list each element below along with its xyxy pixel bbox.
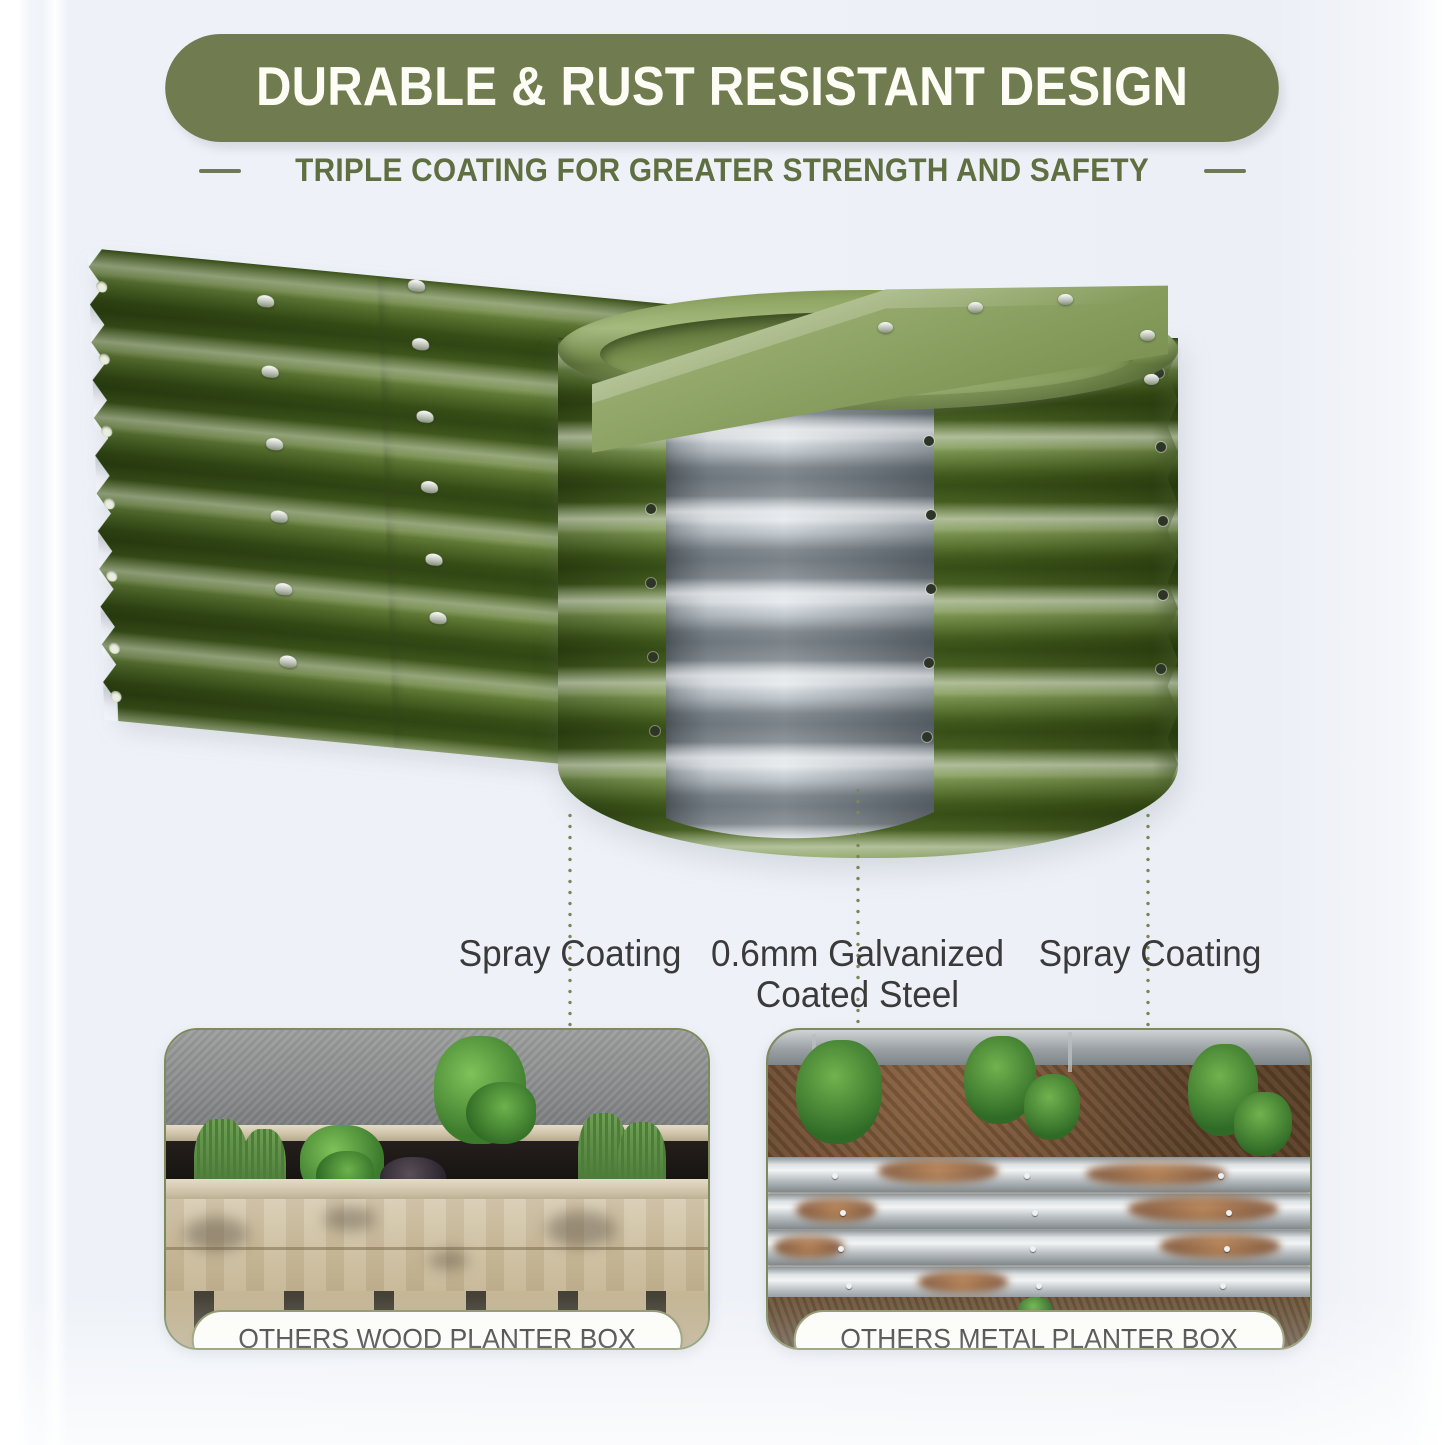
corrugated-band xyxy=(768,1194,1310,1229)
callout-labels: Spray Coating 0.6mm Galvanized Coated St… xyxy=(0,915,1445,1025)
callout-label-line2: Coated Steel xyxy=(756,974,959,1015)
photo-card-wood-planter: OTHERS WOOD PLANTER BOX xyxy=(164,1028,710,1350)
rivet xyxy=(1030,1246,1036,1252)
rust-patch xyxy=(774,1236,844,1258)
photo-caption-metal: OTHERS METAL PLANTER BOX xyxy=(794,1310,1285,1350)
rust-patch xyxy=(796,1198,876,1222)
callout-label: Spray Coating xyxy=(459,933,682,974)
callout-galvanized-steel: 0.6mm Galvanized Coated Steel xyxy=(698,933,1016,1016)
rivet xyxy=(840,1210,846,1216)
banner-title: DURABLE & RUST RESISTANT DESIGN xyxy=(256,59,1188,114)
wood-stain xyxy=(324,1207,376,1231)
header-banner: DURABLE & RUST RESISTANT DESIGN xyxy=(166,34,1280,142)
callout-spray-coating-right: Spray Coating xyxy=(998,933,1302,974)
wood-front-board xyxy=(166,1199,708,1304)
callout-label-line1: 0.6mm Galvanized xyxy=(711,933,1004,974)
rivet xyxy=(832,1173,838,1179)
dash-left-icon xyxy=(199,169,241,173)
product-illustration xyxy=(0,210,1445,910)
basil-plant xyxy=(466,1082,536,1144)
rust-patch xyxy=(1128,1196,1278,1222)
rivet xyxy=(1036,1283,1042,1289)
wood-stain xyxy=(546,1211,616,1247)
wood-stain xyxy=(184,1217,248,1251)
rivet xyxy=(1220,1283,1226,1289)
rivet xyxy=(838,1246,844,1252)
caption-text: OTHERS METAL PLANTER BOX xyxy=(840,1323,1238,1350)
plant-stake xyxy=(1068,1032,1072,1072)
rivet xyxy=(846,1283,852,1289)
subtitle-text: TRIPLE COATING FOR GREATER STRENGTH AND … xyxy=(296,152,1150,189)
callout-spray-coating-left: Spray Coating xyxy=(418,933,722,974)
rivet xyxy=(1218,1173,1224,1179)
callout-label: Spray Coating xyxy=(1039,933,1262,974)
corrugated-band xyxy=(768,1157,1310,1192)
tomato-seedling xyxy=(1024,1074,1080,1140)
corrugated-cylinder xyxy=(548,238,1188,888)
dash-right-icon xyxy=(1204,169,1246,173)
caption-text: OTHERS WOOD PLANTER BOX xyxy=(238,1323,636,1350)
rust-patch xyxy=(878,1159,998,1183)
pepper-plant xyxy=(796,1040,882,1144)
wood-stain xyxy=(428,1251,468,1269)
corrugated-band xyxy=(768,1230,1310,1265)
photo-caption-wood: OTHERS WOOD PLANTER BOX xyxy=(192,1310,683,1350)
rivet xyxy=(1024,1173,1030,1179)
rust-patch xyxy=(1086,1163,1226,1185)
header-banner-wrapper: DURABLE & RUST RESISTANT DESIGN xyxy=(0,34,1445,142)
rivet xyxy=(1226,1210,1232,1216)
product-infographic-page: DURABLE & RUST RESISTANT DESIGN TRIPLE C… xyxy=(0,0,1445,1445)
rivet xyxy=(1032,1210,1038,1216)
rust-patch xyxy=(918,1271,1008,1293)
tomato-seedling xyxy=(1234,1092,1292,1156)
rust-patch xyxy=(1160,1234,1280,1258)
comparison-photos: OTHERS WOOD PLANTER BOX xyxy=(0,1028,1445,1408)
photo-card-metal-planter: OTHERS METAL PLANTER BOX xyxy=(766,1028,1312,1350)
subtitle-row: TRIPLE COATING FOR GREATER STRENGTH AND … xyxy=(0,152,1445,189)
